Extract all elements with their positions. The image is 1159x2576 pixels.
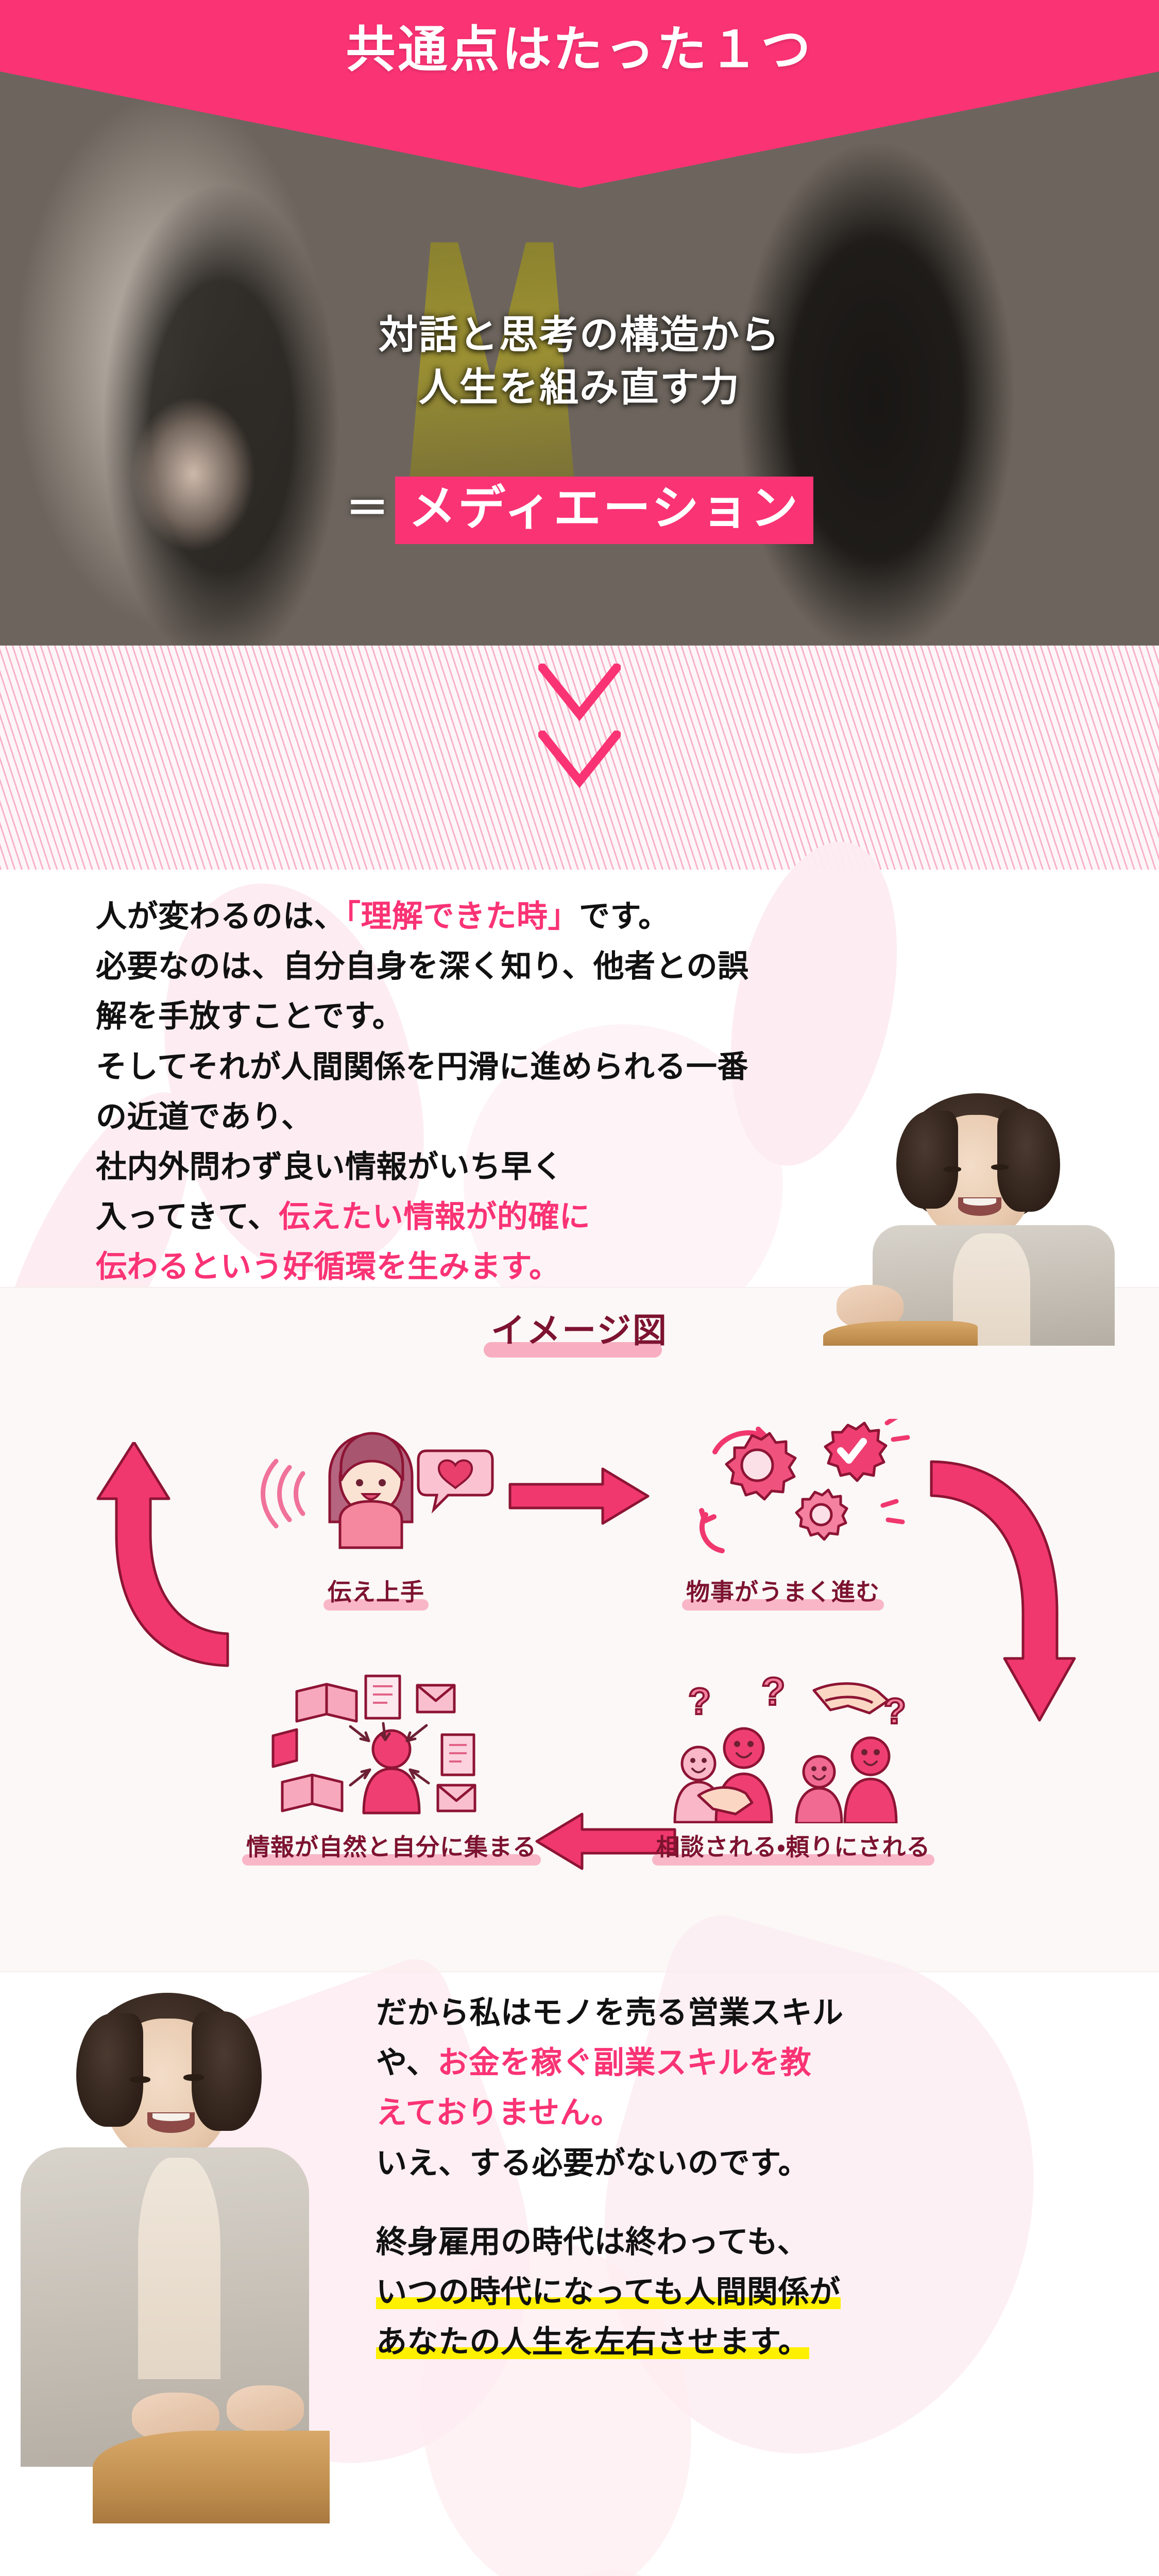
philosophy-line-5: 終身雇用の時代は終わっても、: [376, 2217, 1107, 2267]
portrait-eye: [944, 1166, 961, 1172]
intro-line-1-highlight: 「理解できた時」: [345, 899, 579, 934]
diagram-title-text: イメージ図: [486, 1303, 673, 1357]
hero-banner-title: 共通点はたった１つ: [0, 22, 1159, 78]
intro-line-1-b: です。: [579, 899, 670, 934]
portrait-teeth: [963, 1198, 996, 1206]
cycle-diagram-section: イメージ図: [0, 1287, 1159, 1972]
diagram-node-4: ? ? ?: [598, 1674, 989, 1865]
svg-text:?: ?: [688, 1681, 711, 1722]
woman-portrait-photo-bottom: [0, 1977, 330, 2575]
intro-line-1-a: 人が変わるのは、: [96, 899, 345, 934]
philosophy-line-3-highlight: えておりません。: [376, 2088, 1107, 2138]
diagram-title: イメージ図: [0, 1303, 1159, 1357]
philosophy-line-6: いつの時代になっても人間関係が: [376, 2267, 1107, 2317]
portrait-eye: [130, 2076, 150, 2083]
portrait-hair-side: [192, 2011, 262, 2131]
chevron-down-icon: [538, 664, 621, 724]
portrait-blouse: [138, 2158, 220, 2379]
people-consulting-icon: ? ? ?: [598, 1674, 989, 1823]
hero-subtitle-line-2: 人生を組み直す力: [0, 362, 1159, 414]
diagram-node-3: 情報が自然と自分に集まる: [196, 1674, 587, 1865]
svg-text:?: ?: [761, 1674, 785, 1714]
hero-keyword-row: ＝ メディエーション: [0, 477, 1159, 544]
philosophy-line-1: だから私はモノを売る営業スキル: [376, 1988, 1107, 2038]
hero-subtitle-line-1: 対話と思考の構造から: [0, 309, 1159, 362]
stripe-divider: [0, 646, 1159, 870]
diagram-node-3-label: 情報が自然と自分に集まる: [243, 1828, 540, 1865]
philosophy-line-7: あなたの人生を左右させます。: [376, 2317, 1107, 2367]
diagram-node-2-label: 物事がうまく進む: [683, 1573, 883, 1609]
chevron-down-icon: [538, 731, 621, 791]
svg-text:?: ?: [884, 1691, 906, 1731]
portrait-table: [93, 2431, 330, 2523]
equals-sign: ＝: [346, 487, 389, 533]
portrait-teeth: [152, 2113, 190, 2121]
philosophy-paragraph: だから私はモノを売る営業スキル や、お金を稼ぐ副業スキルを教 えておりません。 …: [376, 1988, 1107, 2367]
philosophy-line-2-a: や、: [376, 2045, 437, 2080]
intro-line-2: 必要なのは、自分自身を深く知り、他者との誤: [96, 941, 961, 991]
portrait-hair-side: [997, 1109, 1060, 1212]
philosophy-line-4: いえ、する必要がないのです。: [376, 2138, 1107, 2188]
philosophy-block-2: 終身雇用の時代は終わっても、 いつの時代になっても人間関係が あなたの人生を左右…: [376, 2217, 1107, 2367]
diagram-node-4-label: 相談される・頼りにされる: [653, 1828, 934, 1865]
philosophy-line-7-marker: あなたの人生を左右させます。: [376, 2325, 809, 2359]
portrait-illustration: [0, 1977, 330, 2575]
diagram-node-1-label: 伝え上手: [325, 1573, 428, 1609]
speaking-woman-icon: [242, 1419, 510, 1568]
diagram-node-1: 伝え上手: [242, 1419, 510, 1609]
hero-subtitle: 対話と思考の構造から 人生を組み直す力: [0, 309, 1159, 414]
portrait-hand: [227, 2385, 304, 2433]
portrait-hair-side: [896, 1111, 958, 1209]
portrait-eye: [991, 1164, 1009, 1170]
portrait-hair-side: [76, 2013, 143, 2127]
hero-keyword-badge: メディエーション: [395, 477, 813, 544]
philosophy-block-1: だから私はモノを売る営業スキル や、お金を稼ぐ副業スキルを教 えておりません。 …: [376, 1988, 1107, 2188]
portrait-eye: [183, 2074, 204, 2081]
intro-line-7-a: 入ってきて、: [96, 1199, 279, 1234]
philosophy-line-2-highlight: お金を稼ぐ副業スキルを教: [437, 2045, 811, 2080]
intro-line-1: 人が変わるのは、「理解できた時」です。: [96, 891, 961, 941]
intro-line-3: 解を手放すことです。: [96, 991, 961, 1041]
hero-section: 共通点はたった１つ 対話と思考の構造から 人生を組み直す力 ＝ メディエーション: [0, 0, 1159, 646]
philosophy-line-6-marker: いつの時代になっても人間関係が: [376, 2275, 841, 2309]
diagram-node-2: 物事がうまく進む: [623, 1419, 943, 1609]
gears-check-icon: [623, 1419, 943, 1568]
philosophy-text-section: だから私はモノを売る営業スキル や、お金を稼ぐ副業スキルを教 えておりません。 …: [0, 1972, 1159, 2576]
landing-page: 共通点はたった１つ 対話と思考の構造から 人生を組み直す力 ＝ メディエーション: [0, 0, 1159, 2576]
intro-line-7-highlight: 伝えたい情報が的確に: [279, 1199, 590, 1234]
information-gathering-icon: [196, 1674, 587, 1823]
intro-text-section: 人が変わるのは、「理解できた時」です。 必要なのは、自分自身を深く知り、他者との…: [0, 870, 1159, 1287]
philosophy-line-2: や、お金を稼ぐ副業スキルを教: [376, 2038, 1107, 2088]
intro-line-4: そしてそれが人間関係を円滑に進められる一番: [96, 1042, 961, 1092]
